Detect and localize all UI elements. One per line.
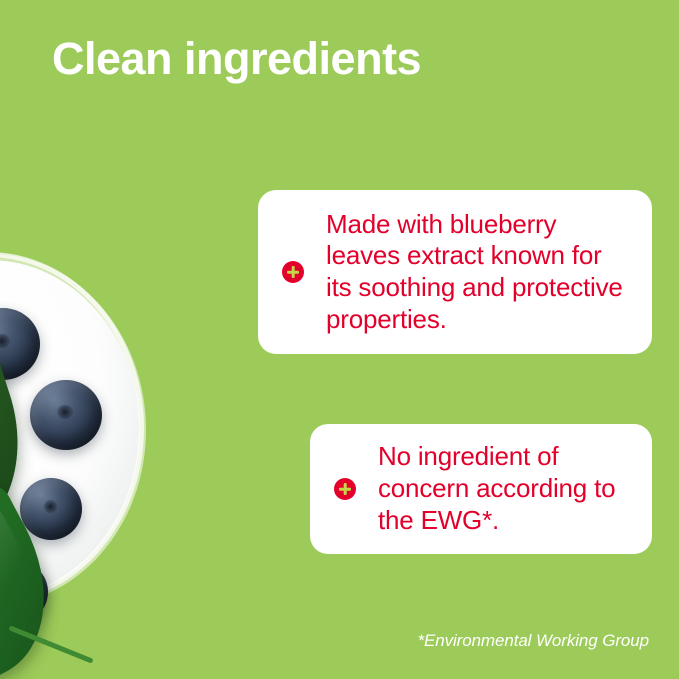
footnote: *Environmental Working Group [417,631,649,651]
benefit-card-text: Made with blueberry leaves extract known… [326,209,628,336]
benefit-card: No ingredient of concern according to th… [310,424,652,554]
plus-icon [334,478,356,500]
blueberry-icon [30,380,102,450]
page-title: Clean ingredients [52,34,421,84]
blueberry-icon [20,478,82,540]
plus-icon [282,261,304,283]
benefit-card-text: No ingredient of concern according to th… [378,441,628,536]
benefit-card: Made with blueberry leaves extract known… [258,190,652,354]
product-photo [0,250,240,679]
promo-banner: Clean ingredients Made with blueberry le… [0,0,679,679]
